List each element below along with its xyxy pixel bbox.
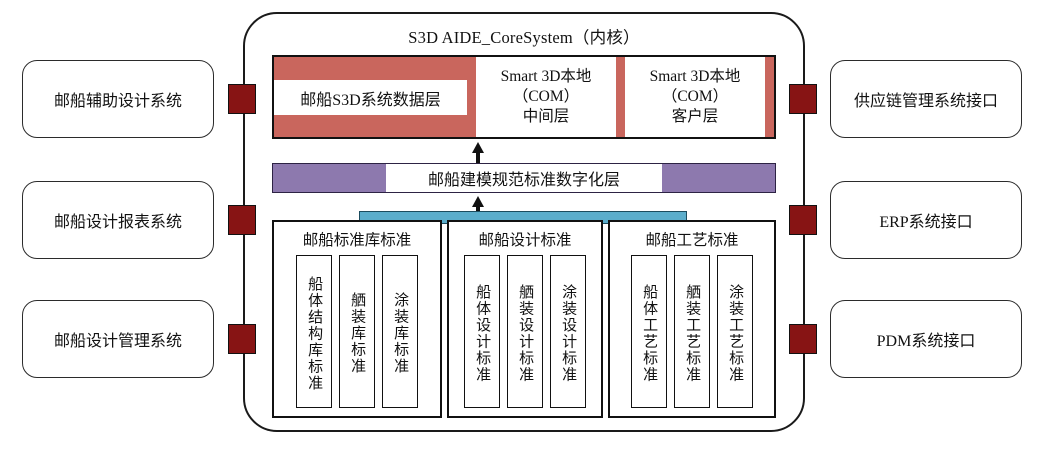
divider-bar-2	[616, 57, 625, 137]
left-system-box-1[interactable]: 邮船辅助设计系统	[22, 60, 214, 138]
smart3d-middle-line1: Smart 3D本地	[501, 67, 592, 87]
standard-item-coating-design[interactable]: 涂装设计标准	[550, 255, 586, 408]
smart3d-middle-layer: Smart 3D本地 （COM） 中间层	[476, 57, 616, 137]
right-system-label-3: PDM系统接口	[877, 327, 976, 351]
standard-item-hull-process[interactable]: 船体工艺标准	[631, 255, 667, 408]
connector-block-left-2	[228, 205, 256, 235]
standard-item-outfitting-library[interactable]: 舾装库标准	[339, 255, 375, 408]
right-system-label-2: ERP系统接口	[879, 208, 972, 232]
digitization-layer-label: 邮船建模规范标准数字化层	[386, 164, 662, 192]
smart3d-client-layer: Smart 3D本地 （COM） 客户层	[625, 57, 765, 137]
left-system-label-2: 邮船设计报表系统	[54, 208, 182, 232]
right-system-box-3[interactable]: PDM系统接口	[830, 300, 1022, 378]
smart3d-middle-line2: （COM）	[513, 87, 579, 107]
s3d-data-layer: 邮船S3D系统数据层	[274, 57, 467, 137]
connector-block-right-3	[789, 324, 817, 354]
smart3d-client-line1: Smart 3D本地	[650, 67, 741, 87]
top-layer-strip: 邮船S3D系统数据层 Smart 3D本地 （COM） 中间层 Smart 3D…	[272, 55, 776, 139]
divider-bar-1	[467, 57, 476, 137]
standards-group-process: 邮船工艺标准 船体工艺标准 舾装工艺标准 涂装工艺标准	[608, 220, 776, 418]
standard-item-outfitting-design[interactable]: 舾装设计标准	[507, 255, 543, 408]
standards-group-design: 邮船设计标准 船体设计标准 舾装设计标准 涂装设计标准	[447, 220, 603, 418]
standards-group-library-title: 邮船标准库标准	[274, 228, 440, 250]
smart3d-middle-line3: 中间层	[523, 107, 570, 127]
digitization-layer-band: 邮船建模规范标准数字化层	[272, 163, 776, 193]
s3d-data-layer-label: 邮船S3D系统数据层	[274, 80, 467, 115]
left-system-box-2[interactable]: 邮船设计报表系统	[22, 181, 214, 259]
connector-block-right-2	[789, 205, 817, 235]
divider-bar-3	[765, 57, 774, 137]
standards-group-library: 邮船标准库标准 船体结构库标准 舾装库标准 涂装库标准	[272, 220, 442, 418]
left-system-label-3: 邮船设计管理系统	[54, 327, 182, 351]
smart3d-client-line3: 客户层	[672, 107, 719, 127]
architecture-diagram: S3D AIDE_CoreSystem（内核） 邮船辅助设计系统 邮船设计报表系…	[0, 0, 1044, 461]
standard-item-hull-design[interactable]: 船体设计标准	[464, 255, 500, 408]
right-system-box-2[interactable]: ERP系统接口	[830, 181, 1022, 259]
core-system-title: S3D AIDE_CoreSystem（内核）	[243, 24, 805, 48]
standards-group-process-title: 邮船工艺标准	[610, 228, 774, 250]
standard-item-coating-library[interactable]: 涂装库标准	[382, 255, 418, 408]
left-system-label-1: 邮船辅助设计系统	[54, 87, 182, 111]
connector-block-left-3	[228, 324, 256, 354]
right-system-box-1[interactable]: 供应链管理系统接口	[830, 60, 1022, 138]
connector-block-left-1	[228, 84, 256, 114]
standards-group-design-title: 邮船设计标准	[449, 228, 601, 250]
standard-item-outfitting-process[interactable]: 舾装工艺标准	[674, 255, 710, 408]
connector-block-right-1	[789, 84, 817, 114]
standard-item-coating-process[interactable]: 涂装工艺标准	[717, 255, 753, 408]
standard-item-hull-structure-library[interactable]: 船体结构库标准	[296, 255, 332, 408]
right-system-label-1: 供应链管理系统接口	[854, 87, 998, 111]
left-system-box-3[interactable]: 邮船设计管理系统	[22, 300, 214, 378]
smart3d-client-line2: （COM）	[662, 87, 728, 107]
